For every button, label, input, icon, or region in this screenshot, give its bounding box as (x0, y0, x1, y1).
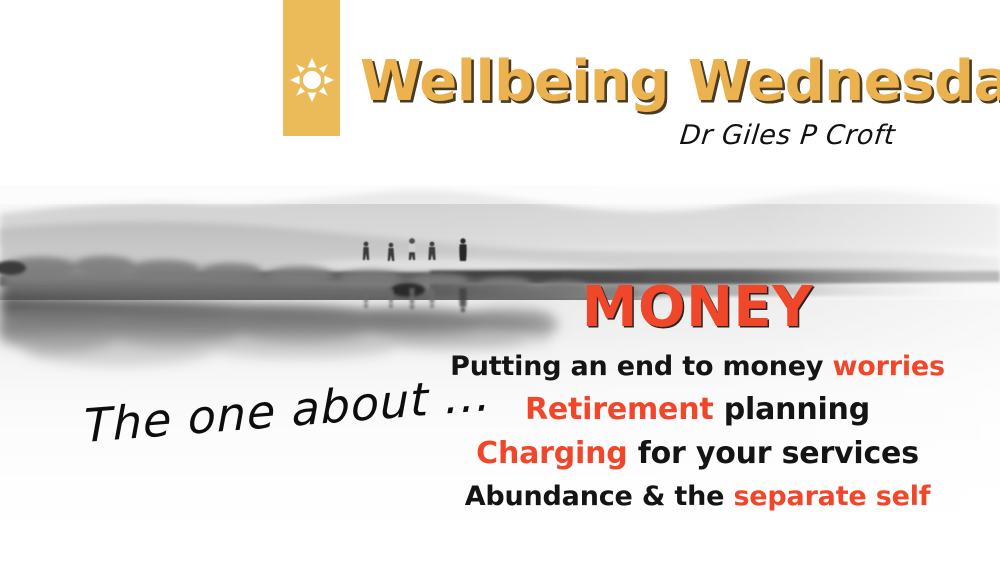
topic-line-pre: Putting an end to money (450, 351, 832, 382)
topic-line-accent: Charging (476, 436, 627, 471)
sun-icon (290, 58, 334, 102)
slide-canvas: Wellbeing Wednesdays Dr Giles P Croft Th… (0, 0, 1000, 563)
topic-line-retirement: Retirement planning (440, 388, 955, 432)
topic-line-post: planning (714, 392, 870, 427)
topic-line-accent: separate self (733, 481, 930, 512)
topic-line-post: for your services (628, 436, 919, 471)
brand-title: Wellbeing Wednesdays (360, 52, 1000, 112)
topic-heading: MONEY (440, 278, 955, 338)
topic-line-accent: Retirement (525, 392, 714, 427)
topic-line-accent: worries (833, 351, 945, 382)
topic-line-abundance: Abundance & the separate self (440, 476, 955, 518)
topic-line-worries: Putting an end to money worries (440, 346, 955, 388)
topic-line-charging: Charging for your services (440, 432, 955, 476)
topic-block: MONEY Putting an end to money worries Re… (440, 278, 955, 518)
topic-line-pre: Abundance & the (465, 481, 734, 512)
brand-subtitle: Dr Giles P Croft (678, 120, 896, 152)
